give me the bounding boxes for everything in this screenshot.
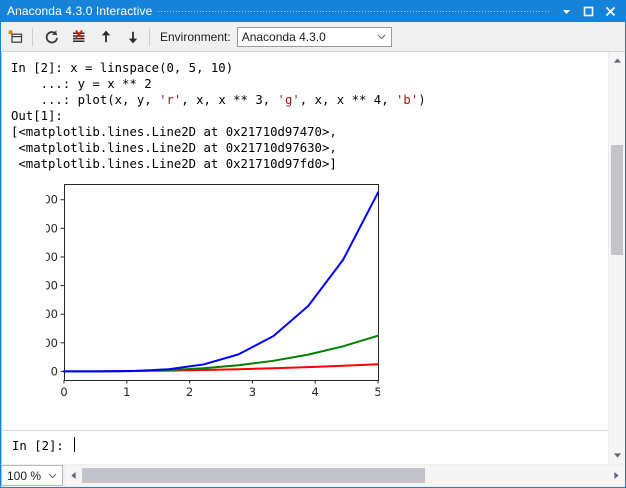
console-line: ...: plot(x, y, 'r', x, x ** 3, 'g', x, … — [11, 92, 426, 108]
code-text: ...: y = x ** 2 — [11, 77, 152, 91]
x-tick-label: 0 — [60, 385, 67, 399]
console-transcript: In [2]: x = linspace(0, 5, 10) ...: y = … — [11, 60, 426, 172]
scroll-down-arrow-icon[interactable] — [609, 447, 626, 464]
text-caret — [74, 437, 75, 452]
code-text: ) — [418, 93, 425, 107]
y-tick-label: 600 — [46, 193, 58, 207]
title-bar[interactable]: Anaconda 4.3.0 Interactive — [0, 0, 626, 22]
x-tick-label: 4 — [312, 385, 319, 399]
x-tick-label: 2 — [186, 385, 193, 399]
y-tick-label: 300 — [46, 279, 58, 293]
vertical-scrollbar[interactable] — [608, 52, 625, 464]
toolbar-separator-2 — [149, 28, 150, 46]
chevron-down-icon — [377, 28, 386, 46]
zoom-select[interactable]: 100 % — [1, 465, 63, 486]
console-output-area[interactable]: In [2]: x = linspace(0, 5, 10) ...: y = … — [2, 52, 608, 430]
y-tick-label: 500 — [46, 221, 58, 235]
toolbar: Environment: Anaconda 4.3.0 — [1, 22, 625, 52]
zoom-level-value: 100 % — [2, 469, 41, 483]
status-bar: 100 % — [1, 464, 625, 487]
input-prompt-label: In [2]: — [12, 439, 71, 453]
code-text: <matplotlib.lines.Line2D at 0x21710d9763… — [11, 141, 337, 155]
x-tick-label: 5 — [374, 385, 380, 399]
code-text: ...: plot(x, y, — [11, 93, 159, 107]
environment-select-value: Anaconda 4.3.0 — [238, 30, 326, 44]
scroll-right-arrow-icon[interactable] — [608, 465, 625, 486]
window-title: Anaconda 4.3.0 Interactive — [0, 4, 152, 18]
console-line: In [2]: x = linspace(0, 5, 10) — [11, 60, 426, 76]
x-tick-label: 3 — [249, 385, 256, 399]
console-line: [<matplotlib.lines.Line2D at 0x21710d974… — [11, 124, 426, 140]
title-bar-grip — [158, 0, 551, 22]
horizontal-scrollbar[interactable] — [65, 465, 625, 486]
maximize-icon[interactable] — [577, 0, 599, 22]
code-string-literal: 'g' — [278, 93, 300, 107]
console-line: <matplotlib.lines.Line2D at 0x21710d9763… — [11, 140, 426, 156]
anaconda-interactive-window: Anaconda 4.3.0 Interactive — [0, 0, 626, 488]
reset-icon[interactable] — [39, 25, 64, 49]
code-string-literal: 'b' — [396, 93, 418, 107]
environment-label: Environment: — [160, 30, 231, 44]
code-string-literal: 'r' — [159, 93, 181, 107]
x-tick-label: 1 — [123, 385, 130, 399]
y-tick-label: 100 — [46, 336, 58, 350]
input-prompt-area[interactable]: In [2]: — [2, 431, 608, 464]
vertical-scrollbar-thumb[interactable] — [611, 145, 623, 255]
y-tick-label: 0 — [51, 364, 58, 378]
console-line: Out[1]: — [11, 108, 426, 124]
y-tick-label: 200 — [46, 307, 58, 321]
console-line: <matplotlib.lines.Line2D at 0x21710d97fd… — [11, 156, 426, 172]
environment-select[interactable]: Anaconda 4.3.0 — [237, 27, 392, 47]
code-text: Out[1]: — [11, 109, 63, 123]
scroll-up-arrow-icon[interactable] — [609, 52, 626, 69]
scroll-left-arrow-icon[interactable] — [65, 465, 82, 486]
code-text: , x, x ** 3, — [181, 93, 277, 107]
toolbar-separator — [32, 28, 33, 46]
interactive-content: In [2]: x = linspace(0, 5, 10) ...: y = … — [1, 52, 625, 464]
window-menu-chevron-down-icon[interactable] — [555, 0, 577, 22]
y-tick-label: 400 — [46, 250, 58, 264]
code-text: [<matplotlib.lines.Line2D at 0x21710d974… — [11, 125, 337, 139]
code-text: In [2]: x = linspace(0, 5, 10) — [11, 61, 233, 75]
history-previous-icon[interactable] — [93, 25, 118, 49]
chevron-down-icon — [48, 466, 57, 485]
plot-canvas: 0123450100200300400500600 — [46, 178, 380, 414]
close-icon[interactable] — [599, 0, 621, 22]
horizontal-scrollbar-thumb[interactable] — [82, 468, 425, 483]
matplotlib-figure: 0123450100200300400500600 — [46, 178, 380, 414]
history-next-icon[interactable] — [120, 25, 145, 49]
clear-all-icon[interactable] — [66, 25, 91, 49]
code-text: , x, x ** 4, — [300, 93, 396, 107]
code-text: <matplotlib.lines.Line2D at 0x21710d97fd… — [11, 157, 337, 171]
horizontal-scrollbar-track[interactable] — [82, 465, 608, 486]
console-line: ...: y = x ** 2 — [11, 76, 426, 92]
new-interactive-window-icon[interactable] — [3, 25, 28, 49]
